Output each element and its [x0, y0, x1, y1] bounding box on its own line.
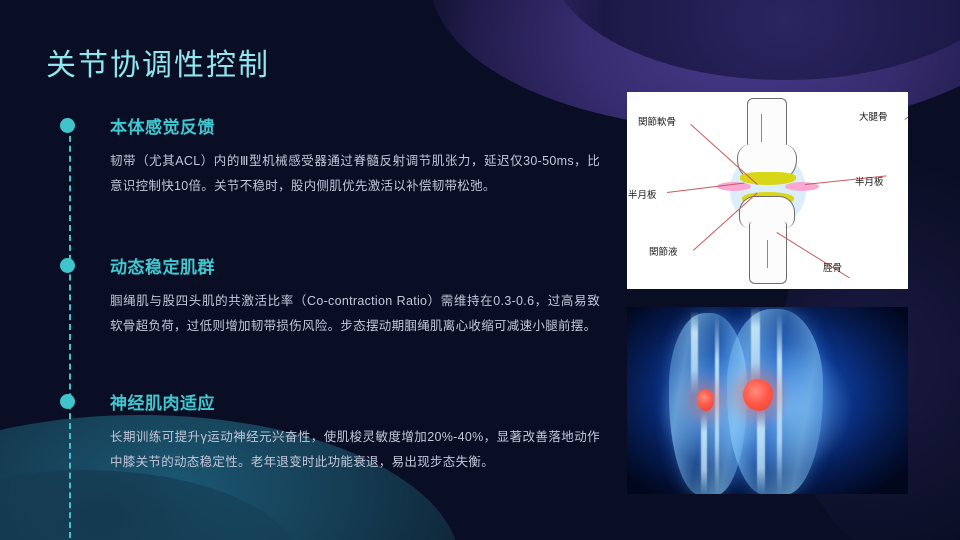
femur-bone-right	[751, 307, 760, 387]
label-meniscus-right: 半月板	[855, 174, 884, 188]
section-body: 腘绳肌与股四头肌的共激活比率（Co-contraction Ratio）需维持在…	[110, 289, 600, 339]
section-dynamic-stabilizer-muscles: 动态稳定肌群 腘绳肌与股四头肌的共激活比率（Co-contraction Rat…	[110, 253, 600, 339]
label-femur: 大腿骨	[859, 109, 888, 123]
femur-hairline	[761, 114, 762, 142]
patella-highlight-left	[697, 389, 714, 411]
intercondylar-notch-shape	[627, 92, 639, 103]
timeline-dot-3	[60, 394, 75, 409]
label-synovial-fluid: 関節液	[649, 244, 678, 258]
slide-content: 关节协调性控制 本体感觉反馈 韧带（尤其ACL）内的Ⅲ型机械感受器通过脊髓反射调…	[0, 0, 960, 540]
tibia-shaft-shape	[749, 222, 787, 284]
patella-highlight-right	[743, 379, 773, 411]
tibia-bone-left	[701, 411, 707, 494]
section-title: 动态稳定肌群	[110, 253, 600, 278]
label-tibia: 脛骨	[823, 260, 842, 274]
section-proprioceptive-feedback: 本体感觉反馈 韧带（尤其ACL）内的Ⅲ型机械感受器通过脊髓反射调节肌张力，延迟仅…	[110, 113, 600, 199]
leader-line-femur	[904, 92, 908, 120]
femur-bone-left	[691, 311, 698, 395]
timeline-dot-1	[60, 118, 75, 133]
knee-anatomy-figure: 関節軟骨 大腿骨 半月板 半月板 関節液 脛骨	[627, 92, 908, 289]
tibia-hairline	[767, 240, 768, 268]
leg-silhouette-front	[727, 309, 823, 494]
fibula-bone-right	[777, 313, 782, 494]
section-neuromuscular-adaptation: 神经肌肉适应 长期训练可提升γ运动神经元兴奋性，使肌梭灵敏度增加20%-40%，…	[110, 389, 600, 475]
timeline-dashed-line	[69, 126, 71, 538]
label-meniscus-left: 半月板	[628, 187, 657, 201]
fibula-bone-left	[715, 315, 719, 494]
section-title: 本体感觉反馈	[110, 113, 600, 138]
label-articular-cartilage: 関節軟骨	[638, 114, 676, 128]
section-body: 长期训练可提升γ运动神经元兴奋性，使肌梭灵敏度增加20%-40%，显著改善落地动…	[110, 425, 600, 475]
knee-xray-figure	[627, 307, 908, 494]
timeline-rail	[67, 118, 73, 538]
page-title: 关节协调性控制	[46, 40, 270, 84]
section-title: 神经肌肉适应	[110, 389, 600, 414]
section-body: 韧带（尤其ACL）内的Ⅲ型机械感受器通过脊髓反射调节肌张力，延迟仅30-50ms…	[110, 149, 600, 199]
tibia-bone-right	[757, 407, 765, 494]
timeline-dot-2	[60, 258, 75, 273]
